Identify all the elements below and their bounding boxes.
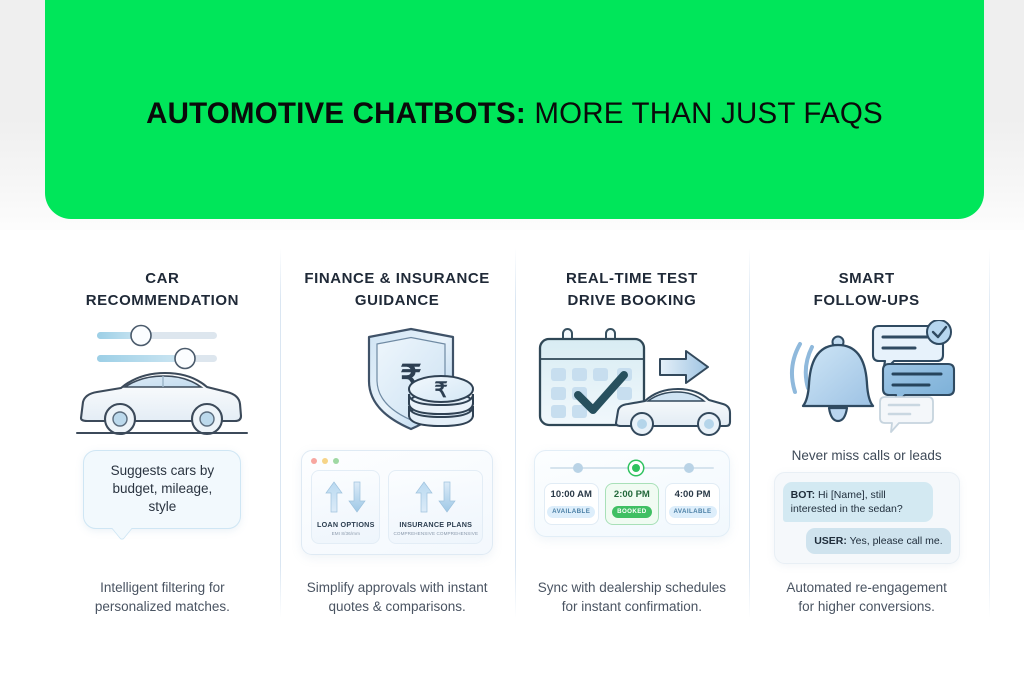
tile-sublabel: COMPREHENSIVE COMPREHENSIVE [393,531,478,536]
time-slot-picker-zone: 10:00 AM AVAILABLE 2:00 PM BOOKED 4:00 P… [527,450,738,578]
suggestion-bubble-zone: Suggests cars by budget, mileage, style [57,450,268,578]
bell-with-chat-bubbles-icon [761,320,972,438]
tile-sublabel: EMI 8/36/mm [316,531,375,536]
column-title-line1: FINANCE & INSURANCE [304,270,489,287]
page-title: AUTOMOTIVE CHATBOTS: MORE THAN JUST FAQS [146,97,883,131]
window-dot-yellow-icon [322,458,328,464]
car-with-sliders-icon [57,320,268,450]
column-caption: Automated re-engagement for higher conve… [786,578,947,640]
loan-insurance-window-zone: LOAN OPTIONS EMI 8/36/mm INSURAN [292,450,503,578]
page-title-strong: AUTOMOTIVE CHATBOTS: [146,97,526,130]
column-caption-line1: Automated re-engagement [786,580,947,595]
column-test-drive-booking: REAL-TIME TEST DRIVE BOOKING [515,240,750,640]
window-dot-green-icon [333,458,339,464]
column-title-line2: FOLLOW-UPS [814,292,920,309]
column-finance-insurance: FINANCE & INSURANCE GUIDANCE [280,240,515,640]
tile-insurance-plans[interactable]: INSURANCE PLANS COMPREHENSIVE COMPREHENS… [388,470,483,544]
chat-row-user: USER: Yes, please call me. [783,528,951,554]
follow-up-note: Never miss calls or leads [792,448,942,463]
time-slot[interactable]: 4:00 PM AVAILABLE [665,483,720,525]
time-slots: 10:00 AM AVAILABLE 2:00 PM BOOKED 4:00 P… [544,483,720,525]
slot-status-badge: AVAILABLE [669,506,717,518]
tile-loan-options[interactable]: LOAN OPTIONS EMI 8/36/mm [311,470,380,544]
slot-status-badge: BOOKED [612,506,652,518]
up-down-arrows-icon [316,480,375,514]
column-caption-line1: Simplify approvals with instant [307,580,488,595]
chat-bubble-bot: BOT: Hi [Name], still interested in the … [783,482,933,522]
column-caption: Intelligent filtering for personalized m… [95,578,230,640]
timeline-node-3[interactable] [684,463,694,473]
column-title: REAL-TIME TEST DRIVE BOOKING [566,268,698,312]
tile-label: INSURANCE PLANS [393,520,478,529]
chat-sender-label: BOT: [791,489,816,501]
header-banner: AUTOMOTIVE CHATBOTS: MORE THAN JUST FAQS [45,0,984,219]
slot-time: 10:00 AM [547,489,596,500]
suggestion-bubble-line1: Suggests cars by [98,462,226,480]
suggestion-bubble-line2: budget, mileage, style [98,480,226,516]
timeline-node-2-selected[interactable] [629,461,643,475]
tile-label: LOAN OPTIONS [316,520,375,529]
time-slot-picker: 10:00 AM AVAILABLE 2:00 PM BOOKED 4:00 P… [534,450,730,537]
time-slot[interactable]: 10:00 AM AVAILABLE [544,483,599,525]
timeline-track [550,462,714,474]
column-car-recommendation: CAR RECOMMENDATION [45,240,280,640]
column-caption-line2: quotes & comparisons. [328,599,465,614]
column-caption: Sync with dealership schedules for insta… [538,578,726,640]
column-caption: Simplify approvals with instant quotes &… [307,578,488,640]
slot-time: 2:00 PM [608,489,657,500]
column-title-line2: DRIVE BOOKING [567,292,696,309]
feature-columns: CAR RECOMMENDATION [45,240,984,640]
column-smart-follow-ups: SMART FOLLOW-UPS [749,240,984,640]
column-title-line2: RECOMMENDATION [86,292,239,309]
loan-insurance-window: LOAN OPTIONS EMI 8/36/mm INSURAN [301,450,493,555]
column-caption-line2: personalized matches. [95,599,230,614]
chat-preview: BOT: Hi [Name], still interested in the … [774,472,960,564]
column-title: SMART FOLLOW-UPS [814,268,920,312]
shield-with-rupee-coins-icon: ₹ ₹ [292,320,503,450]
svg-text:₹: ₹ [434,378,447,402]
chat-sender-label: USER: [814,535,847,547]
window-dots [302,451,492,470]
slot-status-badge: AVAILABLE [547,506,595,518]
calendar-check-car-arrow-icon [527,320,738,450]
chat-message-text: Yes, please call me. [847,535,943,547]
time-slot-booked[interactable]: 2:00 PM BOOKED [605,483,660,525]
column-title-line1: CAR [145,270,179,287]
column-title: FINANCE & INSURANCE GUIDANCE [304,268,489,312]
page-title-light: MORE THAN JUST FAQS [526,97,883,130]
up-down-arrows-icon [393,480,478,514]
column-title: CAR RECOMMENDATION [86,268,239,312]
chat-row-bot: BOT: Hi [Name], still interested in the … [783,482,951,522]
suggestion-speech-bubble: Suggests cars by budget, mileage, style [83,450,241,529]
slot-time: 4:00 PM [668,489,717,500]
chat-bubble-user: USER: Yes, please call me. [806,528,950,554]
column-caption-line2: for higher conversions. [798,599,935,614]
column-title-line1: REAL-TIME TEST [566,270,698,287]
timeline-node-1[interactable] [573,463,583,473]
column-title-line1: SMART [839,270,895,287]
column-title-line2: GUIDANCE [355,292,439,309]
column-caption-line1: Intelligent filtering for [100,580,225,595]
follow-up-chat-zone: Never miss calls or leads BOT: Hi [Name]… [761,438,972,578]
column-caption-line1: Sync with dealership schedules [538,580,726,595]
option-tiles: LOAN OPTIONS EMI 8/36/mm INSURAN [302,470,492,544]
window-dot-red-icon [311,458,317,464]
column-caption-line2: for instant confirmation. [562,599,702,614]
